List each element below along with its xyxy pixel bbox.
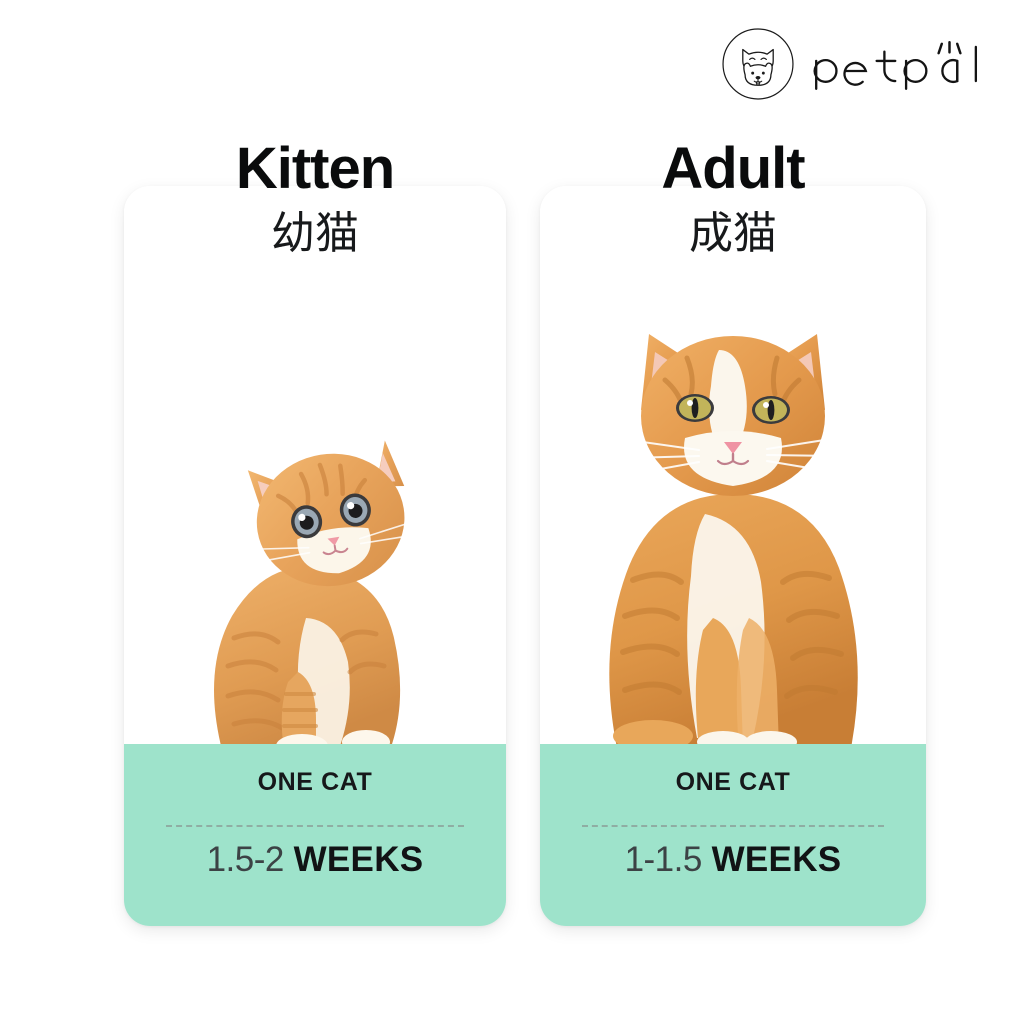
adult-footer-panel: ONE CAT 1-1.5 WEEKS <box>540 744 926 926</box>
adult-cat-illustration-icon <box>563 318 903 744</box>
infographic-page: ONE CAT 1.5-2 WEEKS <box>0 0 1024 1024</box>
kitten-divider <box>166 825 464 827</box>
kitten-footer-panel: ONE CAT 1.5-2 WEEKS <box>124 744 506 926</box>
kitten-title-zh: 幼猫 <box>124 212 506 256</box>
adult-title-zh: 成猫 <box>540 212 926 256</box>
kitten-quantity-label: ONE CAT <box>258 768 373 797</box>
adult-duration-unit: WEEKS <box>712 840 842 879</box>
kitten-duration-number: 1.5-2 <box>207 840 284 879</box>
adult-quantity-label: ONE CAT <box>676 768 791 797</box>
card-adult[interactable]: ONE CAT 1-1.5 WEEKS <box>540 186 926 926</box>
card-kitten[interactable]: ONE CAT 1.5-2 WEEKS <box>124 186 506 926</box>
adult-divider <box>582 825 883 827</box>
adult-photo <box>540 186 926 744</box>
kitten-photo <box>124 186 506 744</box>
adult-duration: 1-1.5 WEEKS <box>625 840 842 880</box>
kitten-duration-unit: WEEKS <box>294 840 424 879</box>
heading-adult: Adult 成猫 <box>540 140 926 256</box>
kitten-illustration-icon <box>180 420 450 744</box>
heading-kitten: Kitten 幼猫 <box>124 140 506 256</box>
kitten-title-en: Kitten <box>124 140 506 198</box>
kitten-duration: 1.5-2 WEEKS <box>207 840 424 880</box>
adult-title-en: Adult <box>540 140 926 198</box>
adult-duration-number: 1-1.5 <box>625 840 702 879</box>
